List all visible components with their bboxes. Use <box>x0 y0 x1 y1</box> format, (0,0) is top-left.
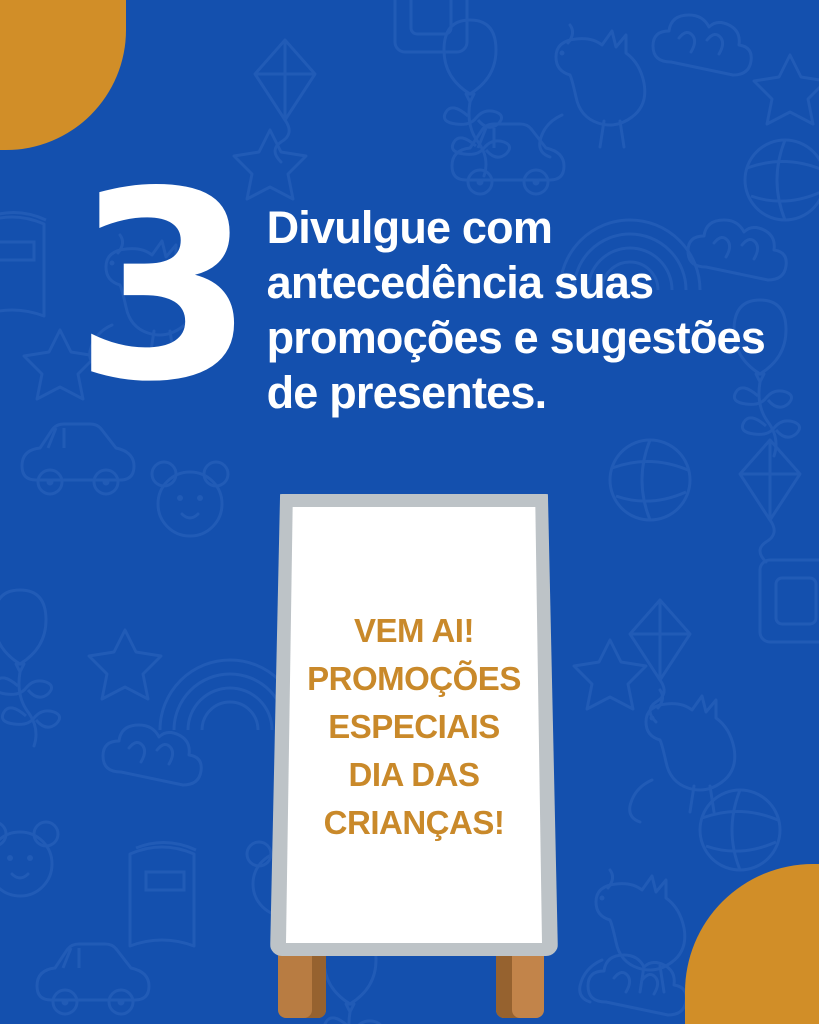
sign-text: VEM AI! PROMOÇÕES ESPECIAIS DIA DAS CRIA… <box>286 607 542 847</box>
sign-frame: VEM AI! PROMOÇÕES ESPECIAIS DIA DAS CRIA… <box>270 494 558 956</box>
top-left-corner-accent <box>0 0 126 150</box>
headline-block: 3 Divulgue com antecedência suas promoçõ… <box>58 186 768 420</box>
step-number: 3 <box>62 178 257 399</box>
headline-line-2: antecedência suas <box>267 255 768 310</box>
bottom-right-corner-accent <box>685 864 819 1024</box>
sign-face: VEM AI! PROMOÇÕES ESPECIAIS DIA DAS CRIA… <box>286 507 542 943</box>
sign-line-2: PROMOÇÕES <box>286 655 542 703</box>
easel-sign: VEM AI! PROMOÇÕES ESPECIAIS DIA DAS CRIA… <box>262 490 562 1024</box>
sign-line-4: DIA DAS <box>286 751 542 799</box>
headline-line-1: Divulgue com <box>267 200 768 255</box>
headline-text: Divulgue com antecedência suas promoções… <box>267 200 768 420</box>
sign-line-5: CRIANÇAS! <box>286 799 542 847</box>
sign-line-3: ESPECIAIS <box>286 703 542 751</box>
headline-line-3: promoções e sugestões <box>267 310 768 365</box>
headline-line-4: de presentes. <box>267 365 768 420</box>
promotional-poster: 3 Divulgue com antecedência suas promoçõ… <box>0 0 819 1024</box>
sign-line-1: VEM AI! <box>286 607 542 655</box>
